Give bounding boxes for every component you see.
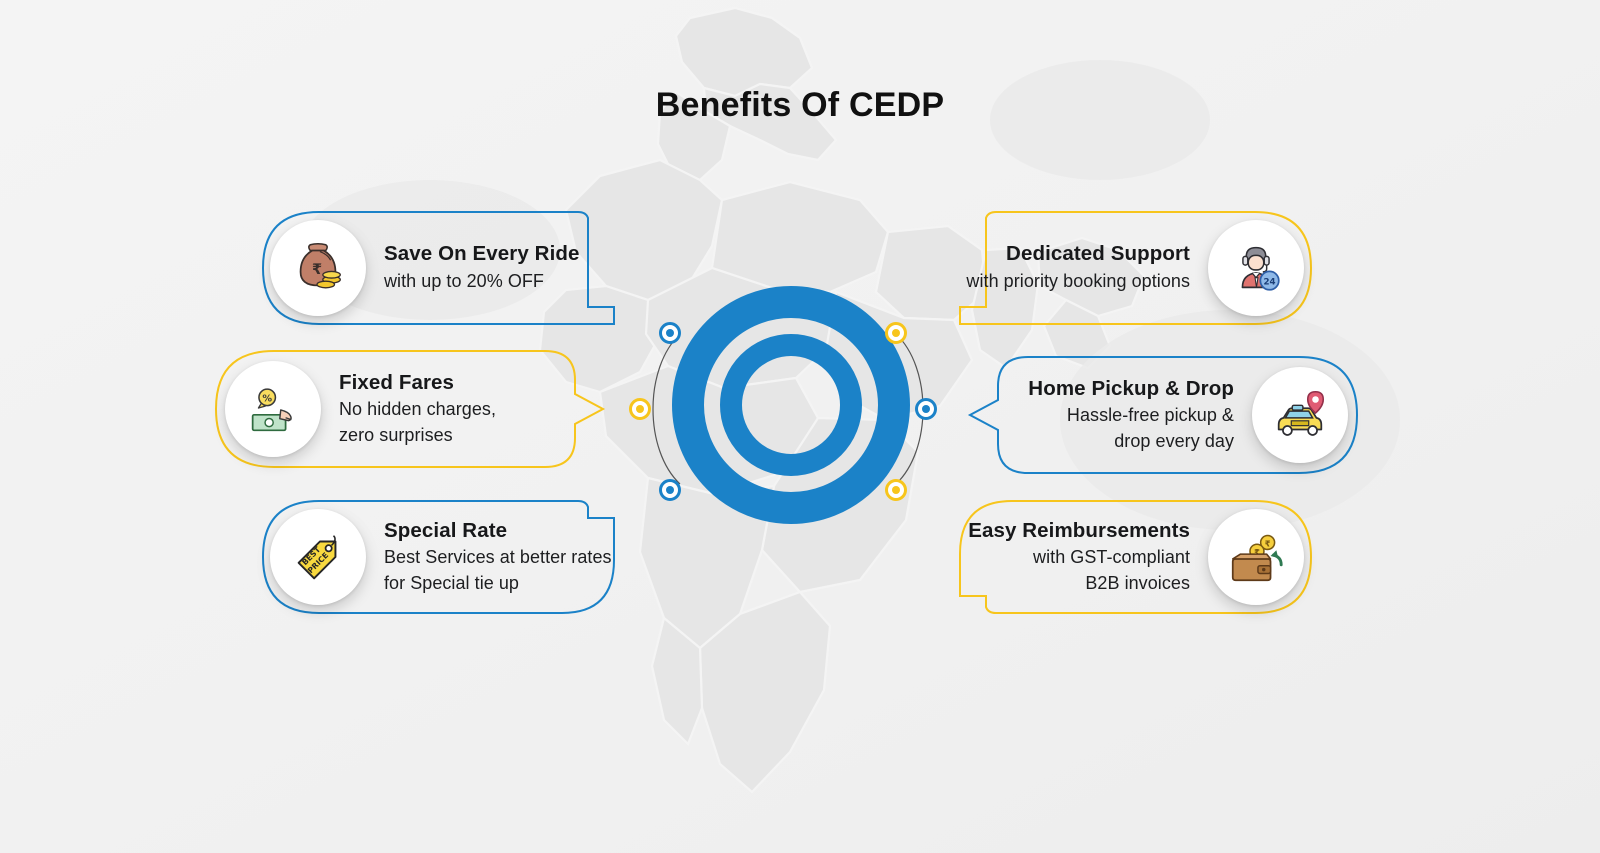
card-special-rate[interactable]: BEST PRICE Special Rate Best Services at…	[262, 500, 642, 614]
svg-text:%: %	[262, 393, 272, 404]
badge-cash-percent: %	[225, 361, 321, 457]
card-subtitle: with GST-compliant B2B invoices	[944, 545, 1190, 596]
card-subtitle: Best Services at better rates for Specia…	[384, 545, 628, 596]
card-title: Special Rate	[384, 518, 628, 544]
card-dedicated-support[interactable]: Dedicated Support with priority booking …	[930, 211, 1312, 325]
card-subtitle: with up to 20% OFF	[384, 269, 628, 295]
money-bag-icon: ₹	[287, 237, 349, 299]
card-title: Save On Every Ride	[384, 241, 628, 267]
dot-middle-left	[629, 398, 651, 420]
dot-bottom-right	[885, 479, 907, 501]
card-title: Fixed Fares	[339, 370, 591, 396]
badge-support-agent: 24	[1208, 220, 1304, 316]
badge-money-bag: ₹	[270, 220, 366, 316]
dot-bottom-left	[659, 479, 681, 501]
badge-taxi-location	[1252, 367, 1348, 463]
card-subtitle: No hidden charges, zero surprises	[339, 397, 591, 448]
svg-text:₹: ₹	[1265, 538, 1271, 548]
dot-top-left	[659, 322, 681, 344]
badge-wallet-rupee: ₹ ₹	[1208, 509, 1304, 605]
best-price-tag-icon: BEST PRICE	[287, 526, 349, 588]
support-agent-icon: 24	[1225, 237, 1287, 299]
wallet-rupee-icon: ₹ ₹	[1225, 526, 1287, 588]
central-hub-rings	[672, 286, 910, 524]
card-title: Dedicated Support	[944, 241, 1190, 267]
card-title: Easy Reimbursements	[944, 518, 1190, 544]
card-home-pickup-and-drop[interactable]: Home Pickup & Drop Hassle-free pickup & …	[968, 356, 1358, 474]
badge-best-price-tag: BEST PRICE	[270, 509, 366, 605]
card-fixed-fares[interactable]: % Fixed Fares No hidden charges, zero su…	[215, 350, 605, 468]
svg-text:₹: ₹	[312, 262, 322, 278]
card-save-on-every-ride[interactable]: ₹ Save On Every Ride with up to 20% OFF	[262, 211, 642, 325]
card-subtitle: Hassle-free pickup & drop every day	[982, 403, 1234, 454]
card-easy-reimbursements[interactable]: Easy Reimbursements with GST-compliant B…	[930, 500, 1312, 614]
dot-top-right	[885, 322, 907, 344]
dot-middle-right	[915, 398, 937, 420]
card-subtitle: with priority booking options	[944, 269, 1190, 295]
support-badge-label: 24	[1264, 277, 1276, 287]
page-title: Benefits Of CEDP	[0, 86, 1600, 125]
taxi-location-icon	[1269, 384, 1331, 446]
cash-percent-icon: %	[242, 378, 304, 440]
card-title: Home Pickup & Drop	[982, 376, 1234, 402]
